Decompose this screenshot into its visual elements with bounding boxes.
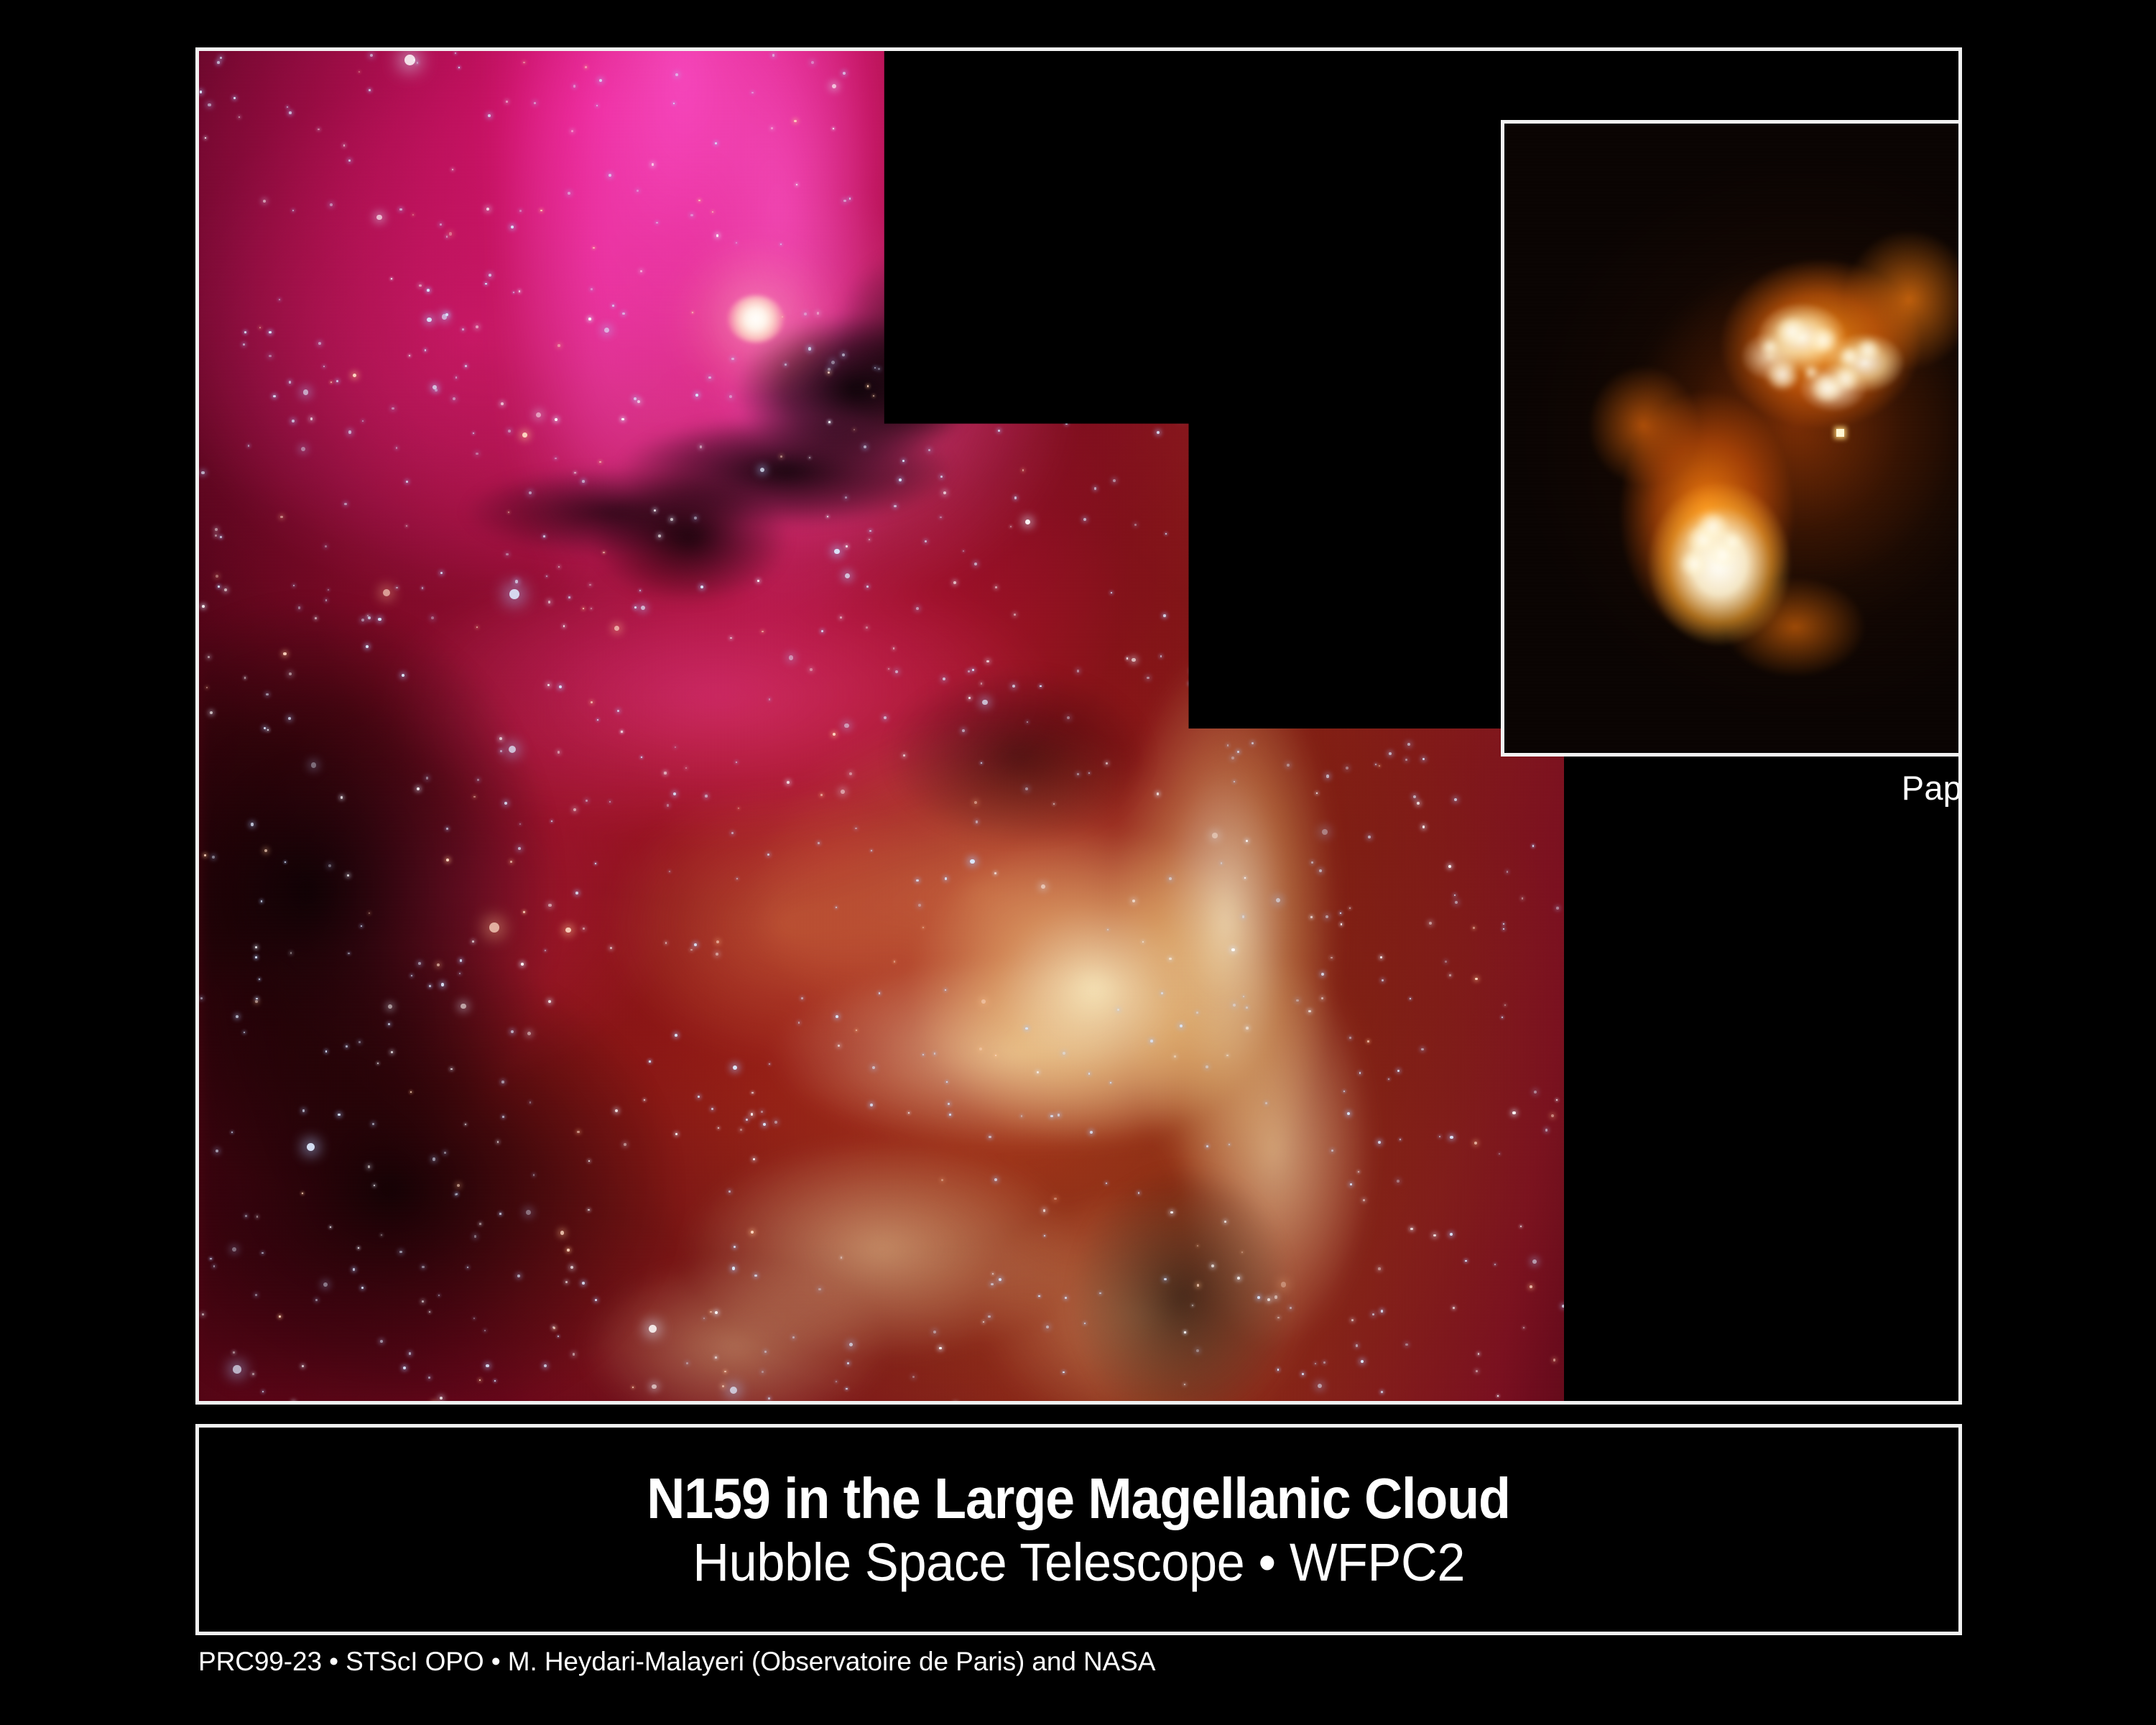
nebula-base-layer — [199, 51, 1564, 1401]
inset-label-line-2: Detail — [1420, 807, 1958, 844]
image-grain — [199, 51, 1564, 1401]
inset-point-star-icon — [1836, 429, 1844, 437]
caption-panel: N159 in the Large Magellanic Cloud Hubbl… — [195, 1424, 1962, 1635]
main-image-frame: Papillon Nebula Detail — [195, 47, 1962, 1405]
papillon-inset-image — [1504, 124, 1958, 753]
dust-lanes-layer — [199, 51, 1564, 1401]
page-title: N159 in the Large Magellanic Cloud — [647, 1470, 1511, 1527]
wfpc2-mosaic — [199, 51, 1564, 1401]
credit-line: PRC99-23 • STScI OPO • M. Heydari-Malaye… — [198, 1647, 1155, 1677]
nebula-cream-layer — [199, 51, 1564, 1401]
starfield — [199, 51, 1564, 1401]
page-subtitle: Hubble Space Telescope • WFPC2 — [693, 1536, 1465, 1589]
inset-label-line-1: Papillon Nebula — [1420, 769, 1958, 807]
main-image-canvas: Papillon Nebula Detail — [199, 51, 1958, 1401]
nebula-magenta-layer — [199, 51, 1564, 1401]
papillon-inset-label: Papillon Nebula Detail — [1420, 769, 1958, 843]
papillon-inset-frame — [1501, 120, 1958, 757]
papillon-knot — [728, 295, 784, 343]
